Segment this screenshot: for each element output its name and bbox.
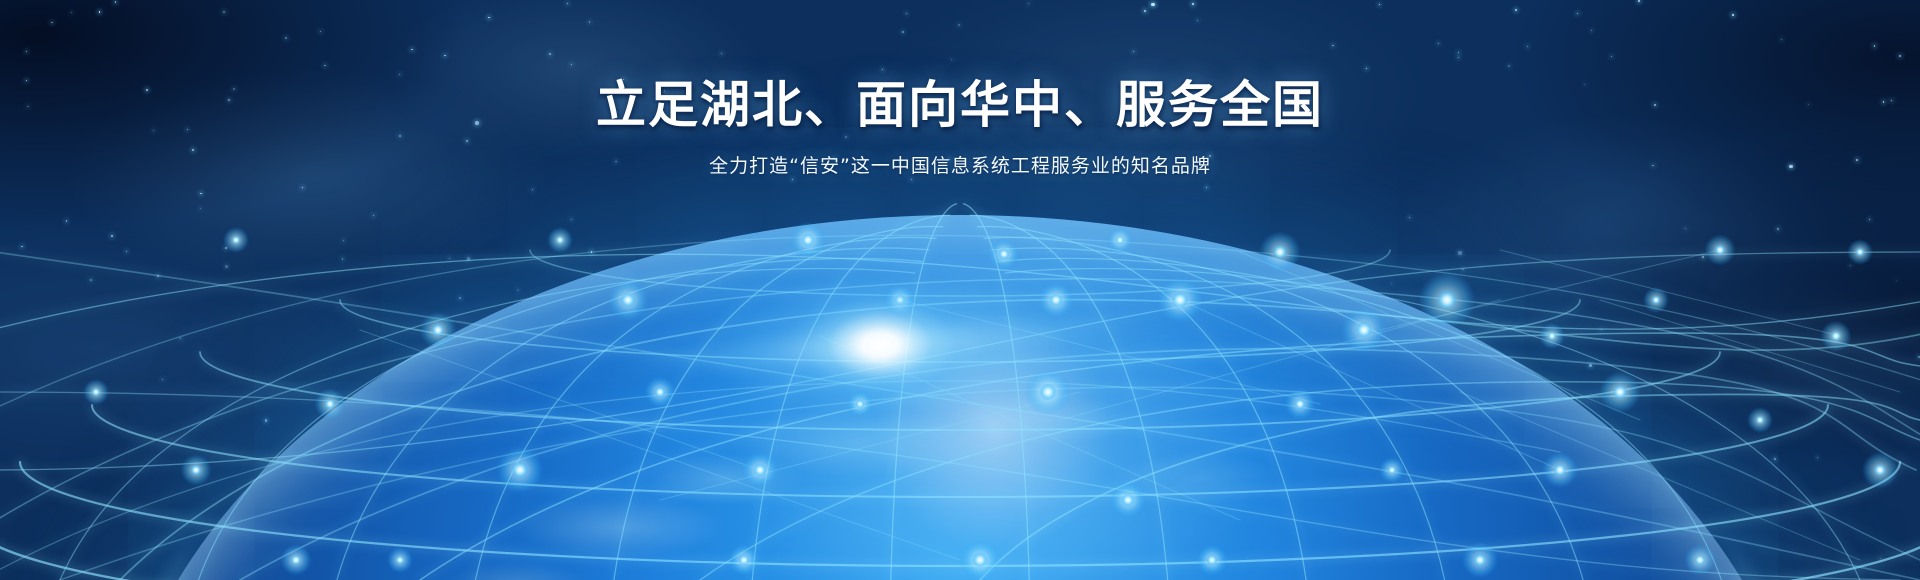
page-subtitle: 全力打造“信安”这一中国信息系统工程服务业的知名品牌 (0, 151, 1920, 178)
hero-text: 立足湖北、面向华中、服务全国 全力打造“信安”这一中国信息系统工程服务业的知名品… (0, 78, 1920, 178)
page-title: 立足湖北、面向华中、服务全国 (0, 78, 1920, 133)
hero-banner: 立足湖北、面向华中、服务全国 全力打造“信安”这一中国信息系统工程服务业的知名品… (0, 0, 1920, 580)
